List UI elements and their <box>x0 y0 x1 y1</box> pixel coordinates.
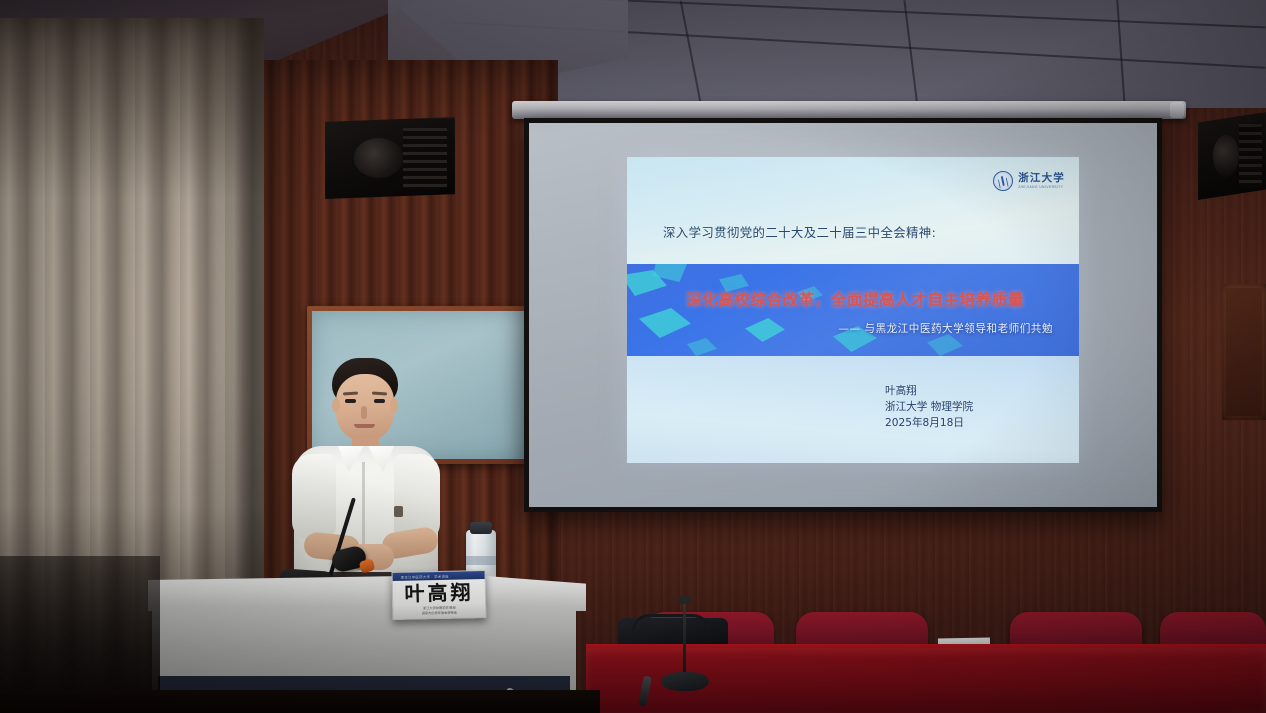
projection-screen: 浙江大学 ZHEJIANG UNIVERSITY 深入学习贯彻党的二十大及二十届… <box>524 118 1162 512</box>
desk-microphone-base <box>661 672 709 691</box>
person-eye-left <box>345 399 356 403</box>
person-nose <box>361 406 367 419</box>
desk-microphone-capsule <box>678 596 691 604</box>
nameplate-name: 叶高翔 <box>393 580 485 606</box>
water-bottle-cap <box>470 522 492 534</box>
lecture-hall-photo: 浙江大学 ZHEJIANG UNIVERSITY 深入学习贯彻党的二十大及二十届… <box>0 0 1266 713</box>
right-wall-frame <box>1222 284 1266 420</box>
byline-date: 2025年8月18日 <box>885 415 973 431</box>
person-eye-right <box>374 399 385 403</box>
speaker-grille <box>403 128 447 187</box>
projection-screen-surface: 浙江大学 ZHEJIANG UNIVERSITY 深入学习贯彻党的二十大及二十届… <box>529 123 1157 507</box>
nameplate-header-text: 黑龙江中医药大学 · 学术讲座 <box>401 573 449 579</box>
byline-presenter: 叶高翔 <box>885 383 973 399</box>
zju-emblem-icon <box>993 171 1013 191</box>
zju-logo-name: 浙江大学 <box>1018 173 1065 184</box>
speaker-cone-icon <box>354 138 403 177</box>
speaker-cone-icon <box>1213 135 1239 177</box>
slide-title-text: 深化高校综合改革，全面提高人才自主培养质量 <box>655 288 1055 310</box>
floor-shadow <box>0 690 600 713</box>
person-pocket-badge <box>394 506 403 517</box>
zju-logo-subname: ZHEJIANG UNIVERSITY <box>1018 186 1065 189</box>
person-sleeve-left <box>292 454 336 540</box>
nameplate: 黑龙江中医药大学 · 学术讲座 叶高翔 浙江大学物理学院 教授 国家杰出青年基金… <box>392 570 487 620</box>
black-bag-strap <box>632 614 710 631</box>
person-ear-right <box>390 398 398 413</box>
projected-slide: 浙江大学 ZHEJIANG UNIVERSITY 深入学习贯彻党的二十大及二十届… <box>627 157 1079 463</box>
slide-subtitle-text: —— 与黑龙江中医药大学领导和老师们共勉 <box>838 321 1053 336</box>
byline-affiliation: 浙江大学 物理学院 <box>885 399 973 415</box>
screen-roller-casing <box>512 101 1186 119</box>
slide-band-bottom <box>627 356 1079 463</box>
wall-speaker-left <box>325 117 455 199</box>
desk-microphone-pole <box>683 600 686 678</box>
wall-speaker-right <box>1198 112 1266 200</box>
nameplate-footer-line2: 国家杰出青年基金获得者 <box>393 610 485 617</box>
slide-kicker-text: 深入学习贯彻党的二十大及二十届三中全会精神: <box>663 223 936 241</box>
zhejiang-university-logo: 浙江大学 ZHEJIANG UNIVERSITY <box>993 171 1065 191</box>
slide-band-middle <box>627 264 1079 356</box>
speaker-grille <box>1239 124 1262 187</box>
nameplate-footer: 浙江大学物理学院 教授 国家杰出青年基金获得者 <box>393 605 485 617</box>
water-bottle-label <box>466 556 496 565</box>
slide-byline: 叶高翔 浙江大学 物理学院 2025年8月18日 <box>885 383 973 431</box>
person-mouth <box>354 424 375 428</box>
person-ear-left <box>332 398 340 413</box>
